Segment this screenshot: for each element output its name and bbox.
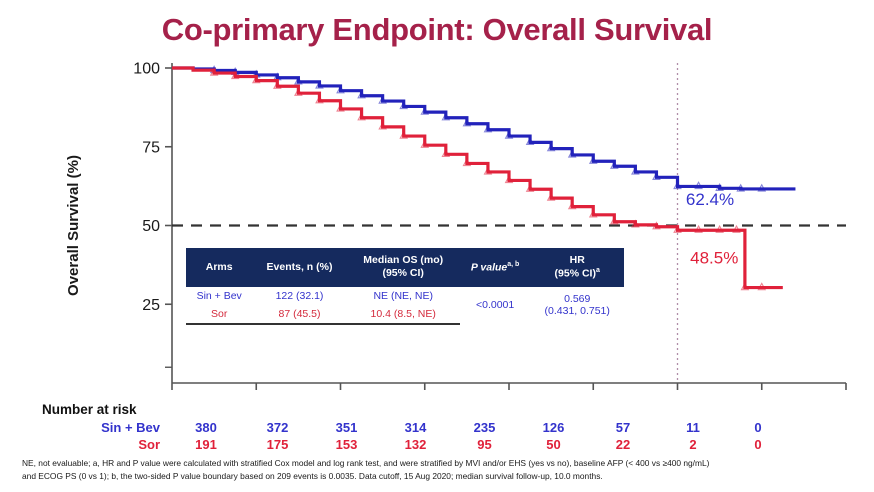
header-hr: HR(95% CI)a — [530, 248, 624, 287]
x-tick-label-2: 2 — [252, 396, 261, 398]
x-tick-label-12: 12 — [669, 396, 687, 398]
curve-sin-bev — [172, 68, 795, 189]
risk-count: 22 — [588, 436, 658, 453]
risk-row-label: Sin + Bev — [30, 419, 169, 436]
survival-chart: 2550751000246810121416MonthsOverall Surv… — [0, 48, 874, 398]
risk-count: 95 — [450, 436, 519, 453]
risk-count: 0 — [728, 436, 788, 453]
risk-count: 2 — [658, 436, 728, 453]
footnote-line-2: and ECOG PS (0 vs 1); b, the two-sided P… — [22, 470, 866, 483]
risk-row-label: Sor — [30, 436, 169, 453]
x-tick-label-10: 10 — [584, 396, 602, 398]
risk-count: 0 — [728, 419, 788, 436]
header-events: Events, n (%) — [252, 248, 346, 287]
risk-count: 372 — [243, 419, 312, 436]
risk-count: 175 — [243, 436, 312, 453]
y-tick-label-50: 50 — [142, 218, 160, 235]
header-arms: Arms — [186, 248, 252, 287]
sin-bev-12mo-rate: 62.4% — [686, 190, 734, 209]
cell-median-os-sin-bev: NE (NE, NE) — [347, 287, 460, 305]
slide-root: Co-primary Endpoint: Overall Survival 25… — [0, 0, 874, 492]
x-tick-label-14: 14 — [753, 396, 771, 398]
cell-p-value: <0.0001 — [460, 287, 531, 324]
y-tick-label-100: 100 — [133, 61, 160, 78]
risk-count: 351 — [312, 419, 381, 436]
cell-arm-sin-bev: Sin + Bev — [186, 287, 252, 305]
footnote: NE, not evaluable; a, HR and P value wer… — [22, 457, 866, 483]
cell-events-sin-bev: 122 (32.1) — [252, 287, 346, 305]
number-at-risk-table: Sin + Bev38037235131423512657110Sor19117… — [30, 419, 788, 453]
table-row-sin-bev: Sin + Bev 122 (32.1) NE (NE, NE) <0.0001… — [186, 287, 624, 305]
x-tick-label-4: 4 — [336, 396, 345, 398]
risk-row-sor: Sor19117515313295502220 — [30, 436, 788, 453]
risk-count: 153 — [312, 436, 381, 453]
cell-hr: 0.569(0.431, 0.751) — [530, 287, 624, 324]
risk-count: 57 — [588, 419, 658, 436]
risk-count: 191 — [169, 436, 243, 453]
cell-events-sor: 87 (45.5) — [252, 305, 346, 324]
y-axis-label: Overall Survival (%) — [65, 155, 82, 296]
risk-count: 314 — [381, 419, 450, 436]
risk-row-sin-bev: Sin + Bev38037235131423512657110 — [30, 419, 788, 436]
sor-12mo-rate: 48.5% — [690, 248, 738, 267]
cell-arm-sor: Sor — [186, 305, 252, 324]
statistics-table: Arms Events, n (%) Median OS (mo)(95% CI… — [186, 248, 624, 325]
risk-count: 50 — [519, 436, 588, 453]
header-p-value: P valuea, b — [460, 248, 531, 287]
cell-median-os-sor: 10.4 (8.5, NE) — [347, 305, 460, 324]
footnote-line-1: NE, not evaluable; a, HR and P value wer… — [22, 457, 866, 470]
x-tick-label-6: 6 — [420, 396, 429, 398]
header-median-os: Median OS (mo)(95% CI) — [347, 248, 460, 287]
y-tick-label-25: 25 — [142, 297, 160, 314]
x-tick-label-0: 0 — [168, 396, 177, 398]
y-tick-label-75: 75 — [142, 139, 160, 156]
table-header-row: Arms Events, n (%) Median OS (mo)(95% CI… — [186, 248, 624, 287]
risk-count: 126 — [519, 419, 588, 436]
risk-count: 380 — [169, 419, 243, 436]
risk-count: 235 — [450, 419, 519, 436]
x-tick-label-16: 16 — [837, 396, 855, 398]
risk-count: 11 — [658, 419, 728, 436]
risk-count: 132 — [381, 436, 450, 453]
x-tick-label-8: 8 — [505, 396, 514, 398]
number-at-risk-label: Number at risk — [42, 402, 137, 417]
page-title: Co-primary Endpoint: Overall Survival — [0, 12, 874, 48]
